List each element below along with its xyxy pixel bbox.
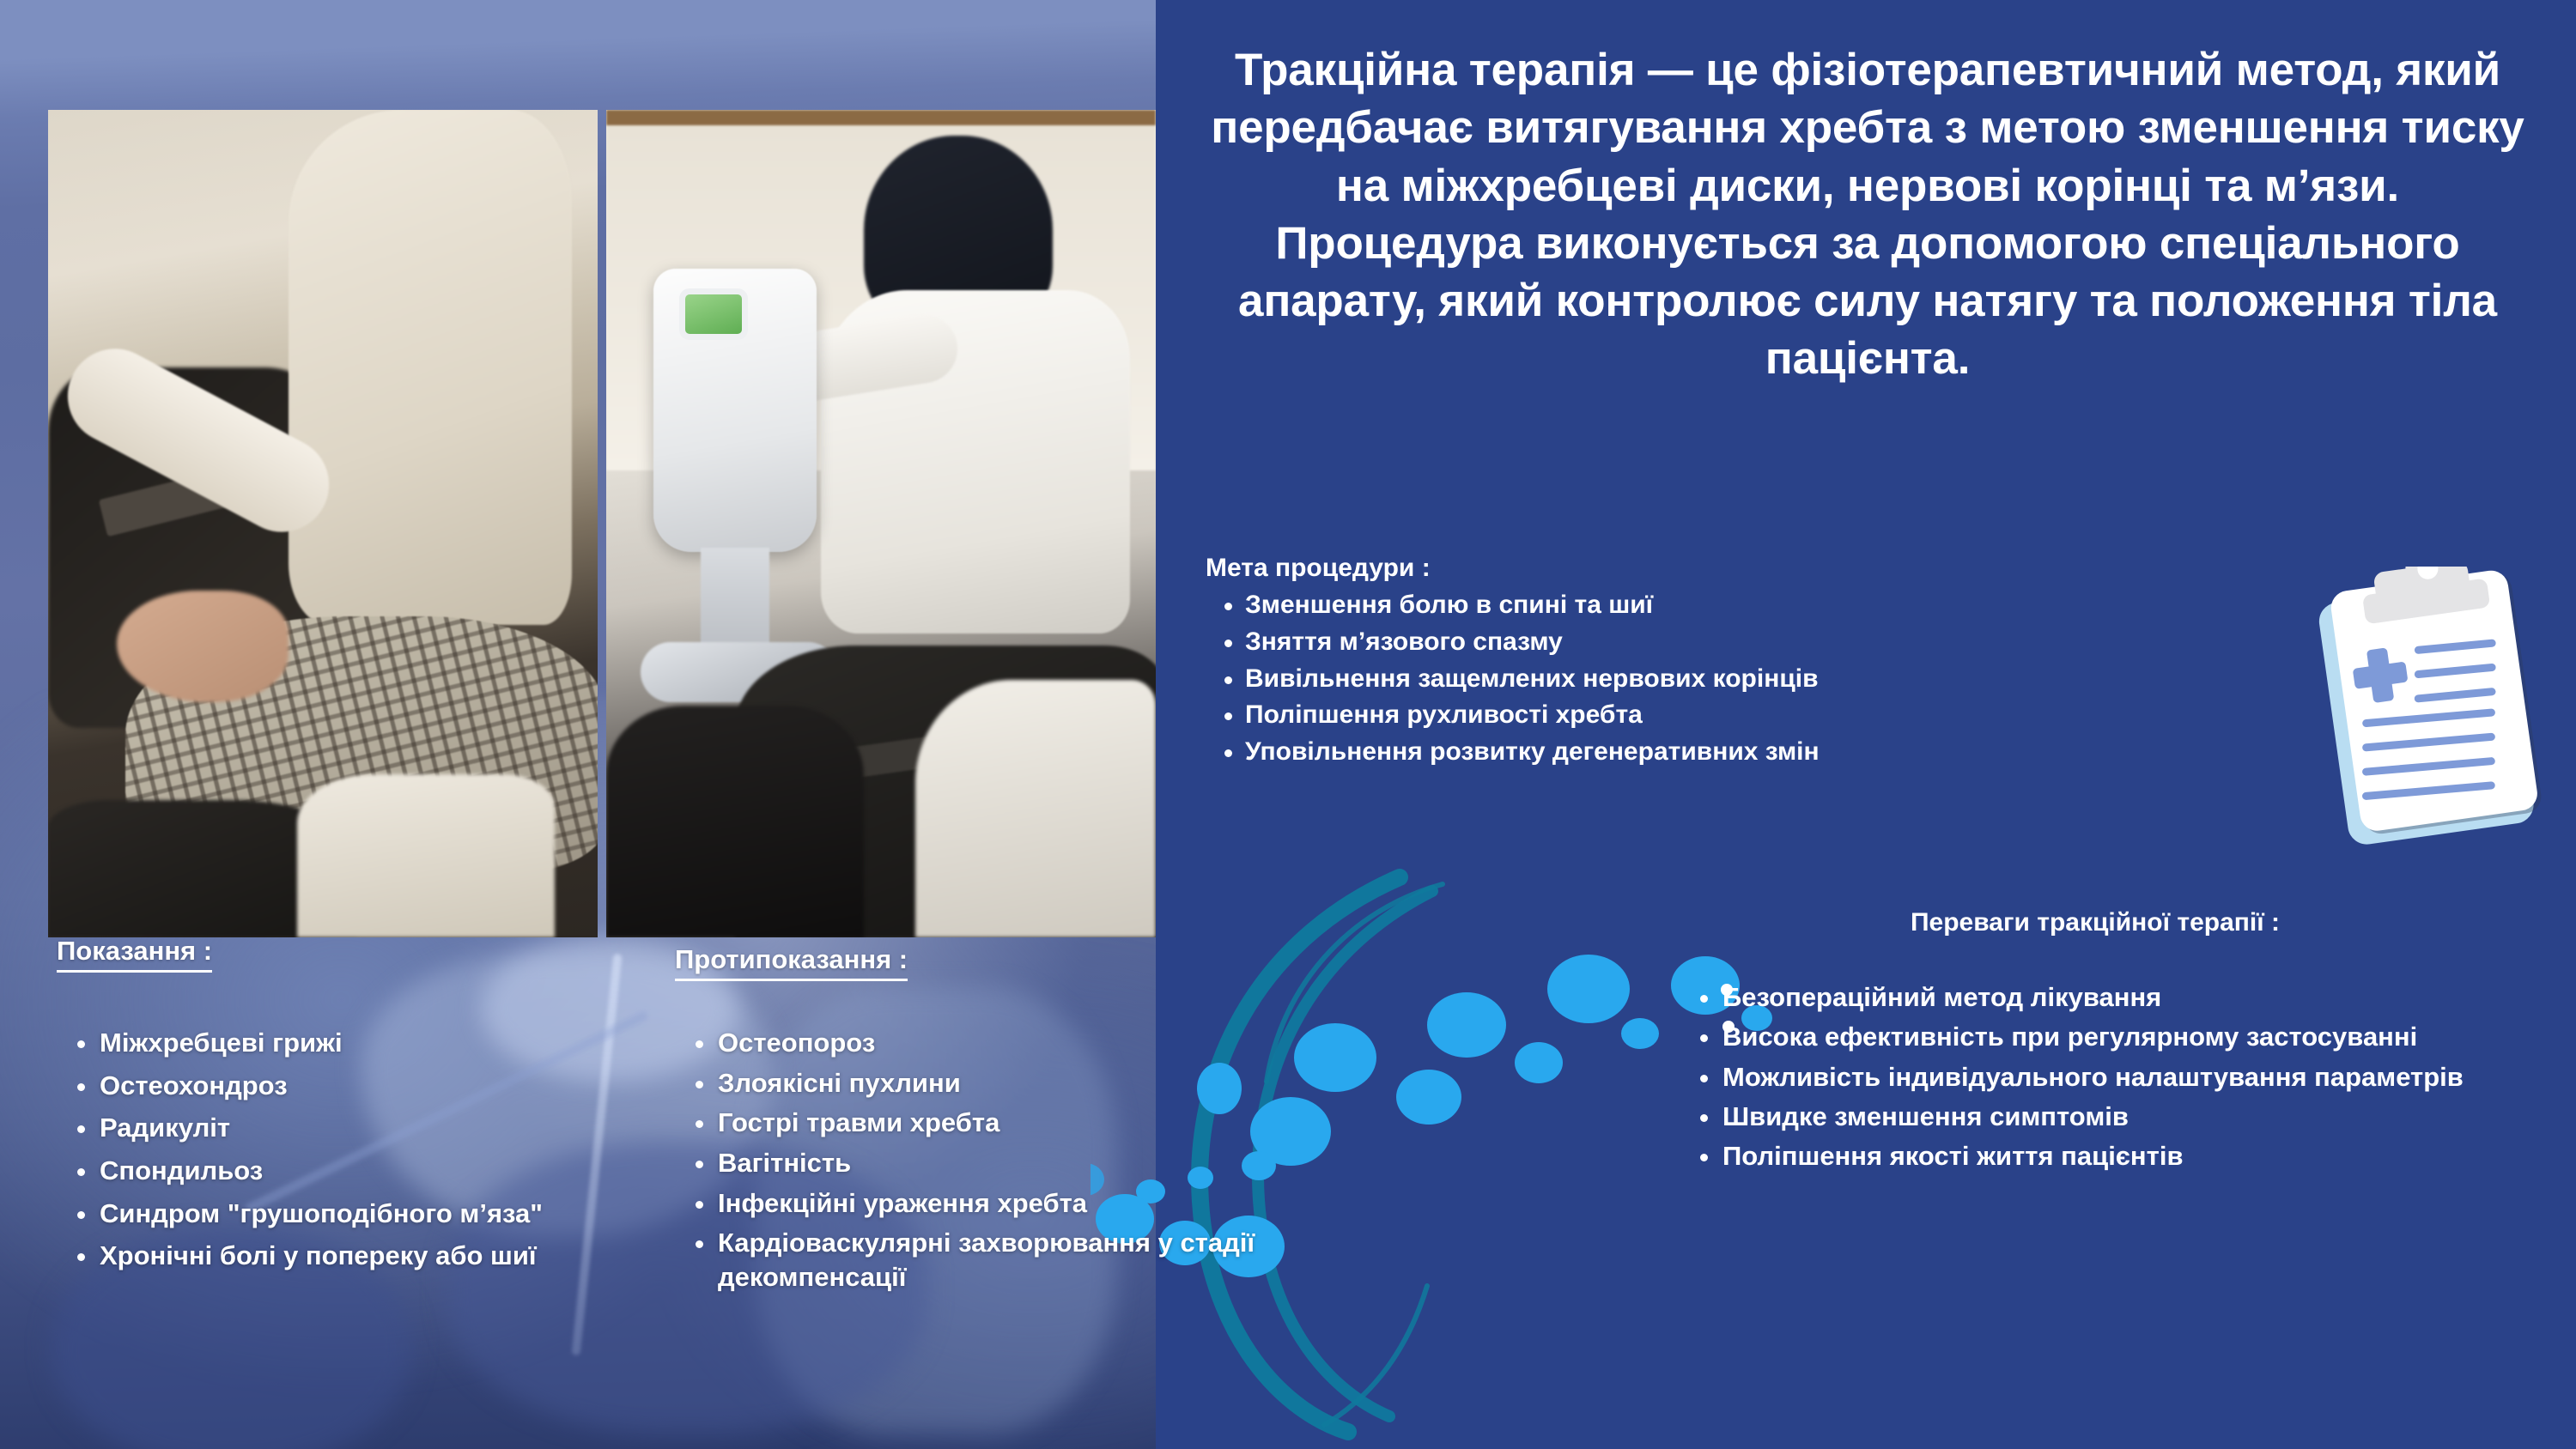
- list-item: Спондильоз: [100, 1154, 658, 1188]
- slide-canvas: Тракційна терапія — це фізіотерапевтични…: [0, 0, 2576, 1449]
- advantages-list: Безопераційний метод лікування Висока еф…: [1657, 980, 2533, 1173]
- indications-section: Показання : Міжхребцеві грижі Остеохондр…: [57, 936, 658, 1282]
- advantages-section-title: Переваги тракційної терапії :: [1657, 908, 2533, 937]
- list-item: Висока ефективність при регулярному заст…: [1722, 1020, 2533, 1054]
- list-item: Можливість індивідуального налаштування …: [1722, 1060, 2533, 1094]
- list-item: Злоякісні пухлини: [718, 1066, 1431, 1100]
- therapist-treating-patient-photo: [48, 110, 598, 937]
- contraindications-section-title: Протипоказання :: [675, 944, 908, 981]
- goal-list: Зменшення болю в спині та шиї Зняття м’я…: [1206, 589, 1978, 768]
- list-item: Швидке зменшення симптомів: [1722, 1100, 2533, 1134]
- list-item: Радикуліт: [100, 1111, 658, 1145]
- list-item: Кардіоваскулярні захворювання у стадії д…: [718, 1226, 1431, 1294]
- list-item: Синдром "грушоподібного м’яза": [100, 1197, 658, 1231]
- list-item: Остеопороз: [718, 1026, 1431, 1060]
- list-item: Міжхребцеві грижі: [100, 1026, 658, 1060]
- goal-section: Мета процедури : Зменшення болю в спині …: [1206, 554, 1978, 773]
- advantages-section: Переваги тракційної терапії : Безопераці…: [1657, 908, 2533, 1179]
- photo-strip: [48, 110, 1156, 937]
- list-item: Поліпшення якості життя пацієнтів: [1722, 1139, 2533, 1173]
- list-item: Поліпшення рухливості хребта: [1206, 699, 1978, 731]
- page-title: Тракційна терапія — це фізіотерапевтични…: [1206, 41, 2529, 388]
- contraindications-section: Протипоказання : Остеопороз Злоякісні пу…: [675, 944, 1431, 1300]
- indications-list: Міжхребцеві грижі Остеохондроз Радикуліт…: [57, 1026, 658, 1273]
- list-item: Зменшення болю в спині та шиї: [1206, 589, 1978, 621]
- list-item: Безопераційний метод лікування: [1722, 980, 2533, 1015]
- list-item: Остеохондроз: [100, 1069, 658, 1103]
- list-item: Вагітність: [718, 1146, 1431, 1180]
- patient-with-traction-machine-photo: [606, 110, 1156, 937]
- list-item: Інфекційні ураження хребта: [718, 1186, 1431, 1221]
- list-item: Зняття м’язового спазму: [1206, 626, 1978, 658]
- indications-section-title: Показання :: [57, 936, 212, 973]
- list-item: Уповільнення розвитку дегенеративних змі…: [1206, 736, 1978, 768]
- list-item: Вивільнення защемлених нервових корінців: [1206, 663, 1978, 695]
- goal-section-title: Мета процедури :: [1206, 554, 1978, 583]
- list-item: Хронічні болі у попереку або шиї: [100, 1239, 658, 1273]
- contraindications-list: Остеопороз Злоякісні пухлини Гострі трав…: [675, 1026, 1431, 1294]
- list-item: Гострі травми хребта: [718, 1106, 1431, 1140]
